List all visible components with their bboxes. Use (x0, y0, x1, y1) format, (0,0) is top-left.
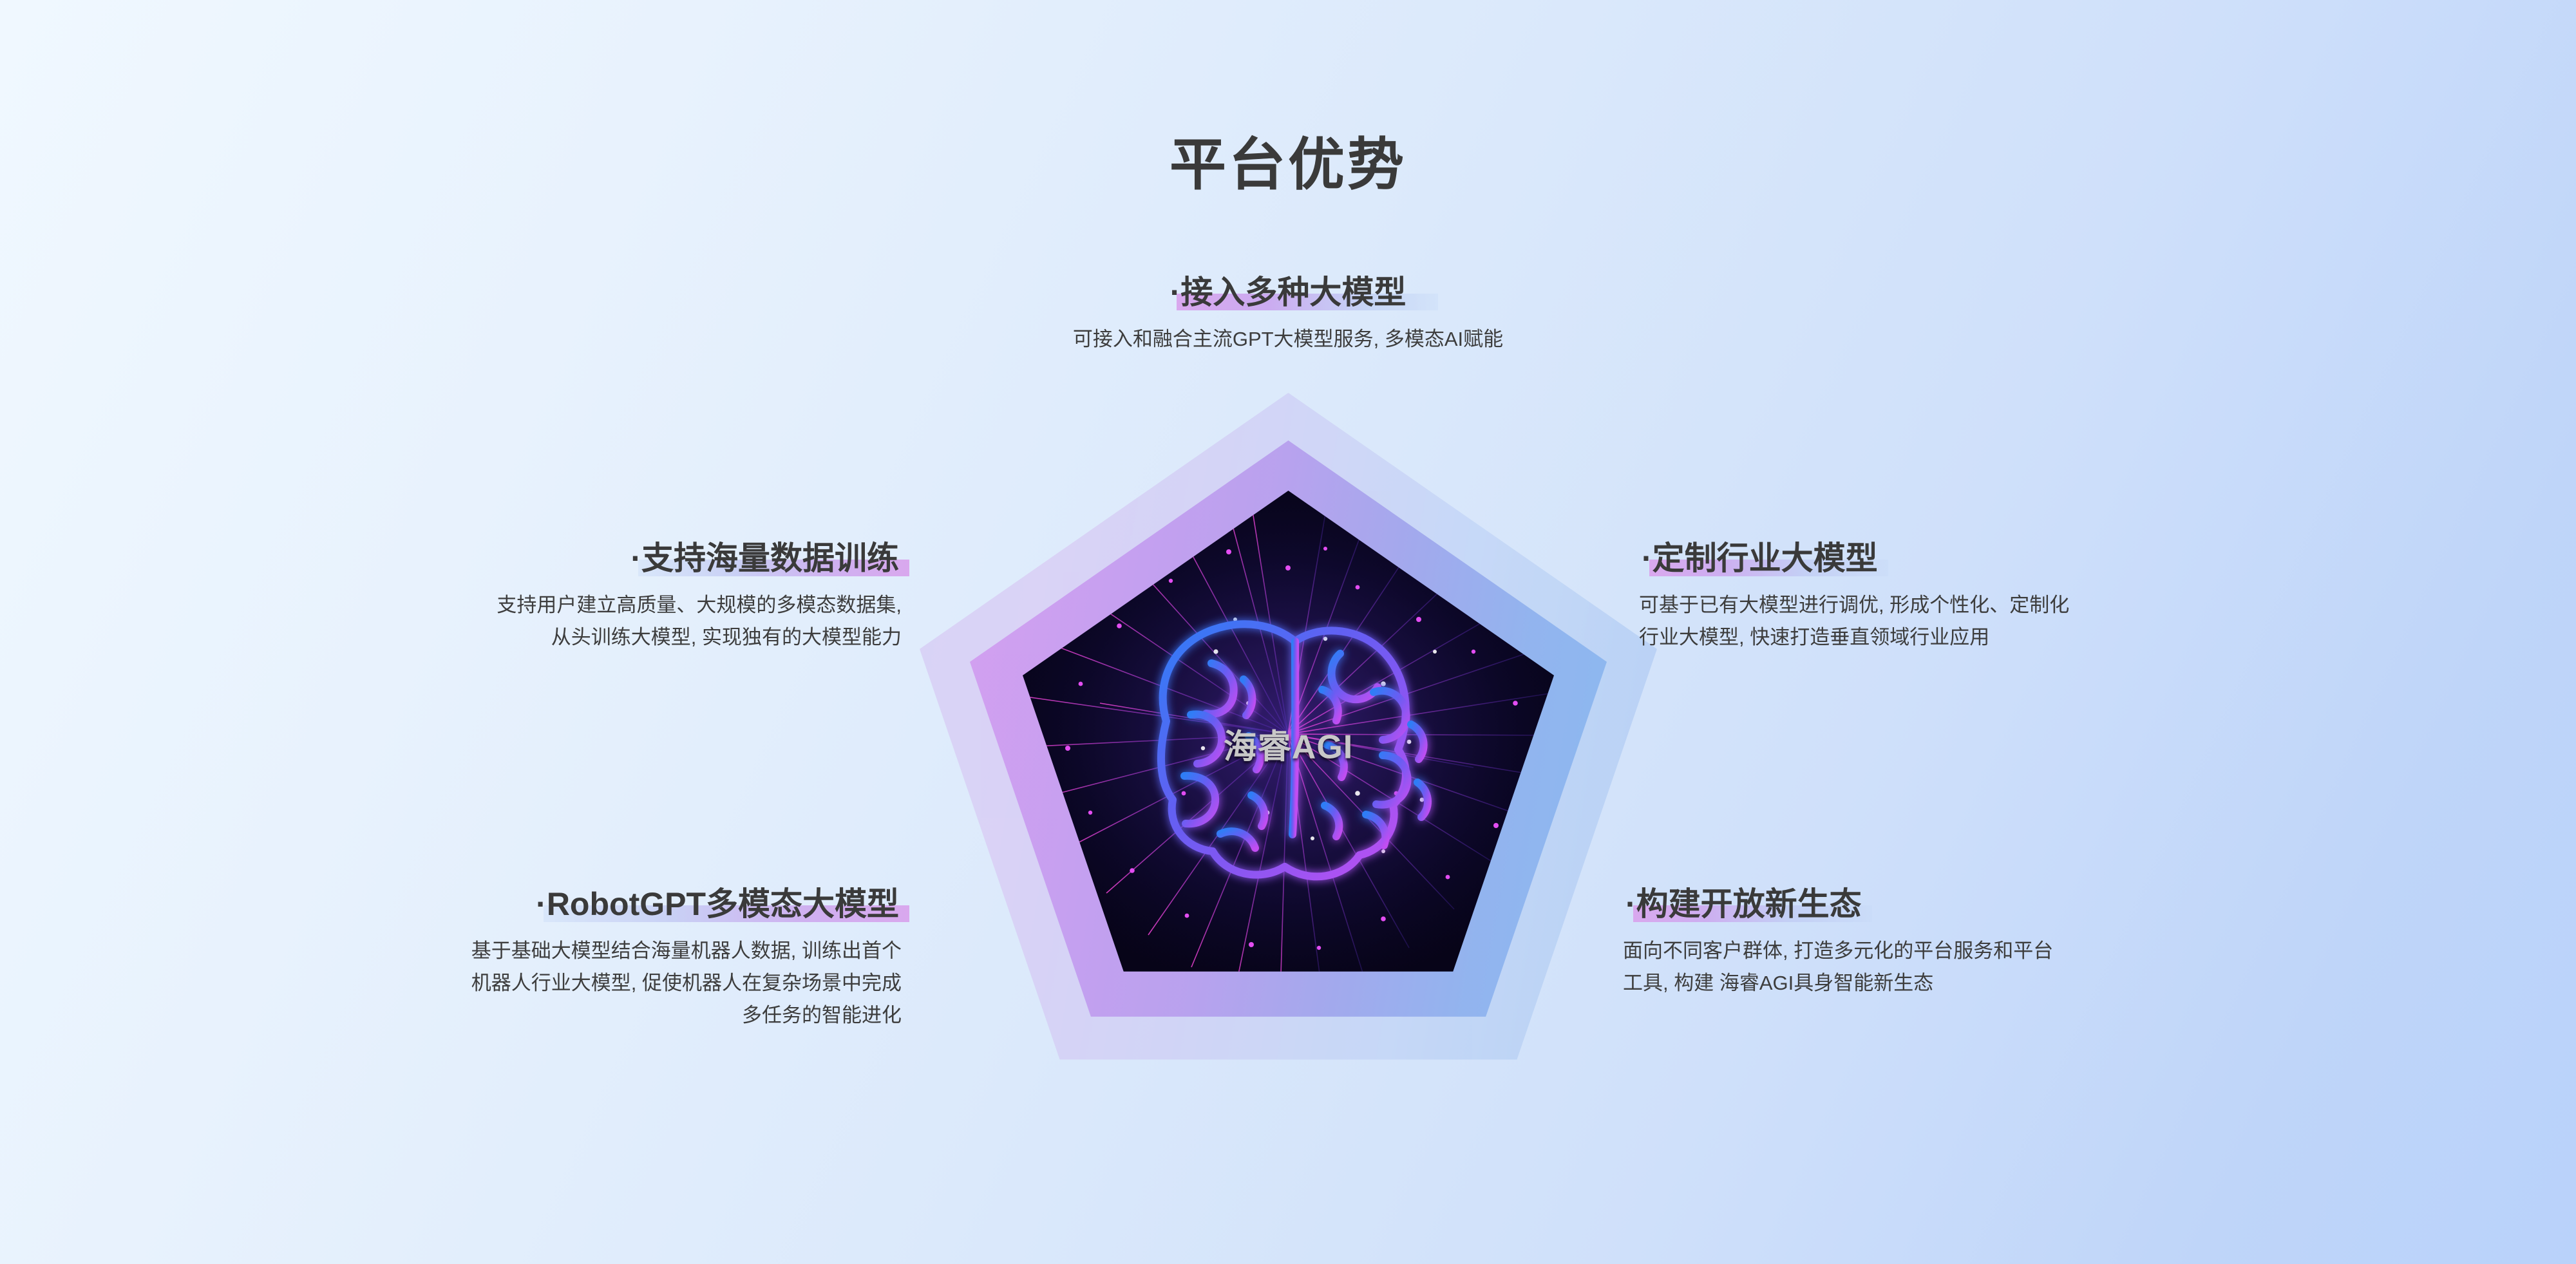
feature-desc-industry-model: 可基于已有大模型进行调优, 形成个性化、定制化 行业大模型, 快速打造垂直领域行… (1639, 589, 2463, 654)
feature-title-text: 定制行业大模型 (1653, 540, 1878, 576)
feature-title-open-ecosystem: ·构建开放新生态 (1623, 885, 1864, 923)
feature-desc-data-training: 支持用户建立高质量、大规模的多模态数据集, 从头训练大模型, 实现独有的大模型能… (116, 589, 902, 654)
bullet-icon: · (1642, 540, 1653, 576)
bullet-icon: · (536, 886, 547, 922)
feature-open-ecosystem[interactable]: ·构建开放新生态 面向不同客户群体, 打造多元化的平台服务和平台 工具, 构建 … (1623, 885, 2460, 999)
feature-robotgpt[interactable]: ·RobotGPT多模态大模型 基于基础大模型结合海量机器人数据, 训练出首个 … (116, 885, 902, 1032)
bullet-icon: · (630, 540, 641, 576)
feature-desc-access-models: 可接入和融合主流GPT大模型服务, 多模态AI赋能 (708, 323, 1868, 355)
page-title: 平台优势 (0, 119, 2576, 201)
feature-desc-open-ecosystem: 面向不同客户群体, 打造多元化的平台服务和平台 工具, 构建 海睿AGI具身智能… (1623, 935, 2460, 999)
feature-data-training[interactable]: ·支持海量数据训练 支持用户建立高质量、大规模的多模态数据集, 从头训练大模型,… (116, 540, 902, 654)
bullet-icon: · (1625, 886, 1636, 922)
feature-title-text: 支持海量数据训练 (641, 540, 899, 576)
feature-title-robotgpt: ·RobotGPT多模态大模型 (533, 885, 902, 923)
bullet-icon: · (1170, 274, 1181, 310)
feature-title-text: 构建开放新生态 (1636, 886, 1862, 922)
feature-industry-model[interactable]: ·定制行业大模型 可基于已有大模型进行调优, 形成个性化、定制化 行业大模型, … (1639, 540, 2463, 654)
feature-title-text: 接入多种大模型 (1180, 274, 1406, 310)
feature-title-industry-model: ·定制行业大模型 (1639, 540, 1880, 578)
feature-title-access-models: ·接入多种大模型 (1168, 274, 1409, 312)
center-brand-label: 海睿AGI (1023, 720, 1554, 768)
feature-desc-robotgpt: 基于基础大模型结合海量机器人数据, 训练出首个 机器人行业大模型, 促使机器人在… (116, 935, 902, 1032)
feature-title-data-training: ·支持海量数据训练 (628, 540, 902, 578)
feature-title-text: RobotGPT多模态大模型 (547, 886, 899, 922)
pentagon-graphic: 海睿AGI (920, 393, 1657, 1095)
feature-access-models[interactable]: ·接入多种大模型 可接入和融合主流GPT大模型服务, 多模态AI赋能 (708, 274, 1868, 355)
